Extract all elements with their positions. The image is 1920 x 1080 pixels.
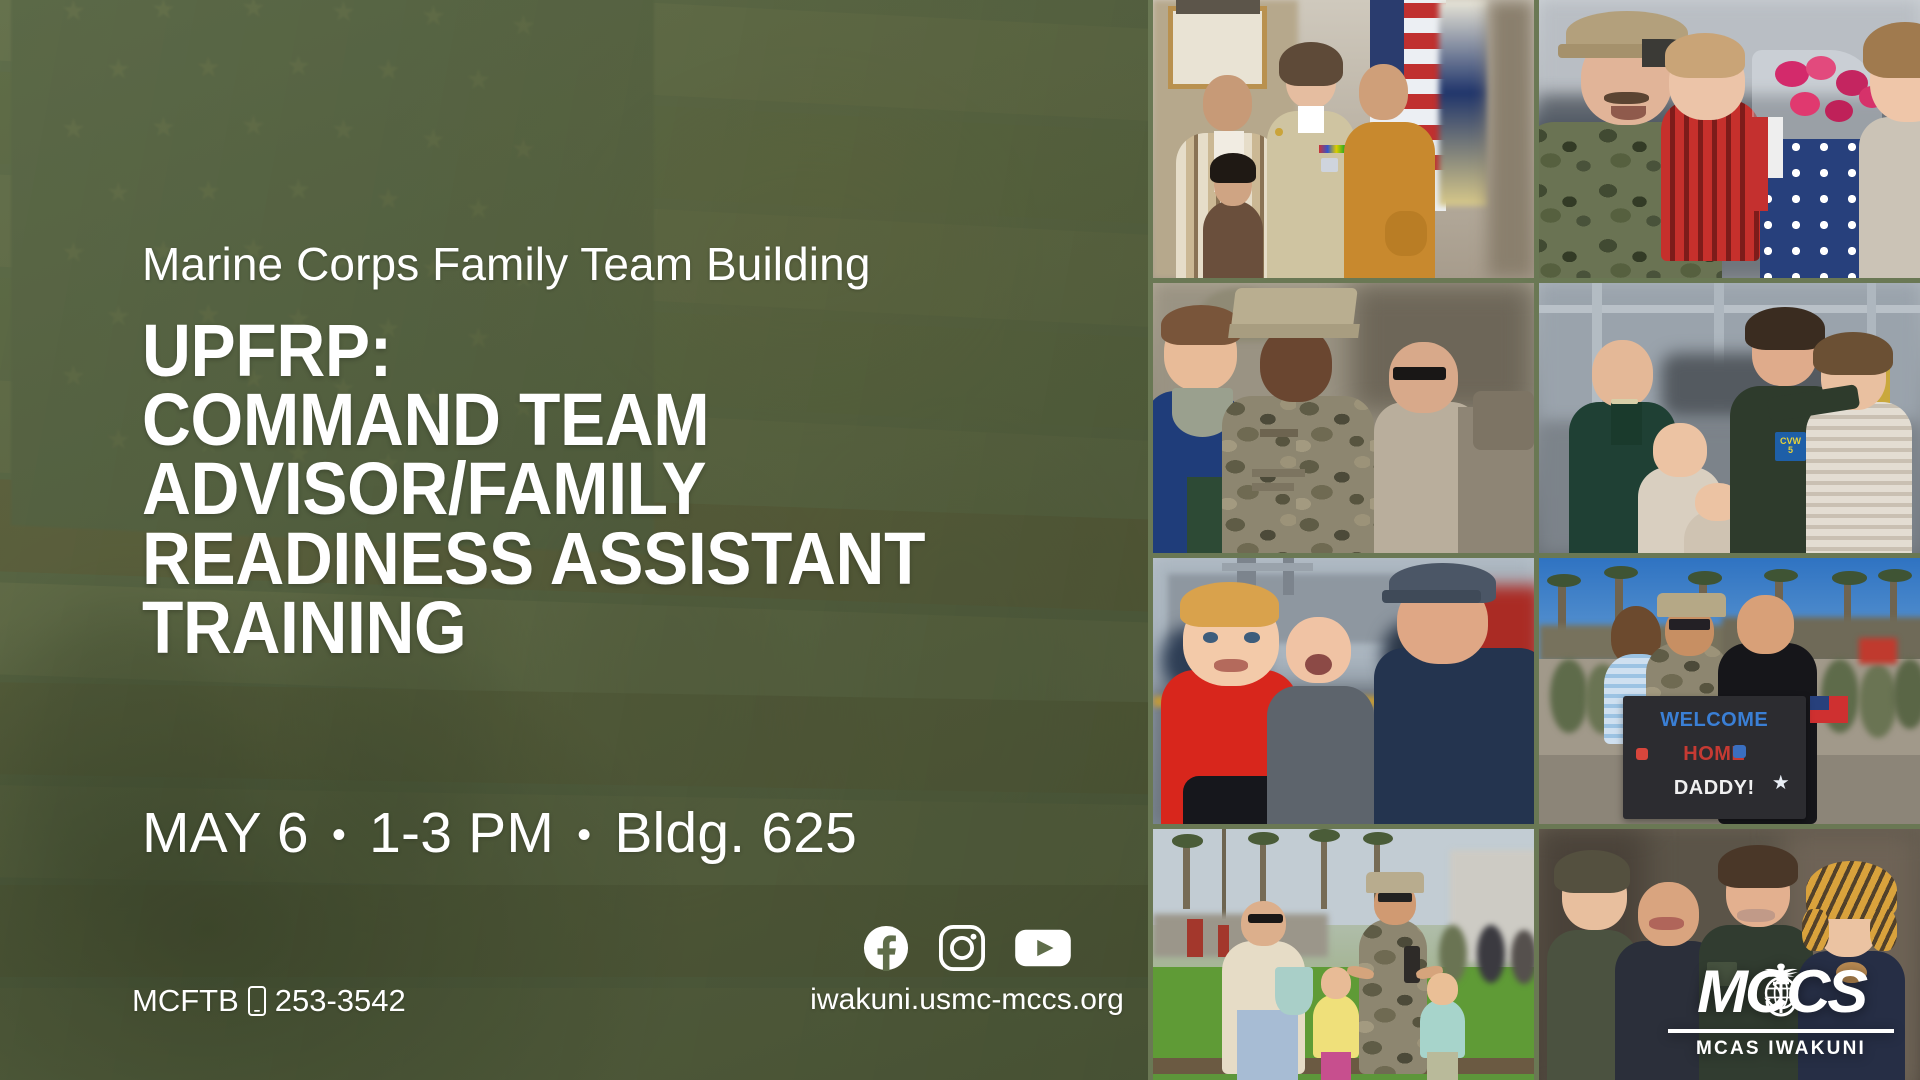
sign-line-1: WELCOME [1623, 709, 1806, 732]
headline-line-1: UPFRP: [142, 316, 925, 385]
photo-grid: CVW5 [1148, 0, 1920, 1080]
left-text-panel: Marine Corps Family Team Building UPFRP:… [0, 0, 1148, 1080]
welcome-home-sign: WELCOME HOME DADDY! [1623, 696, 1806, 818]
instagram-icon[interactable] [939, 925, 985, 971]
eagle-globe-anchor-icon [1748, 957, 1814, 1026]
poster-headline: UPFRP: COMMAND TEAM ADVISOR/FAMILY READI… [142, 316, 925, 662]
event-time: 1-3 PM [369, 801, 554, 865]
detail-separator-2: • [570, 813, 598, 857]
social-icon-row [802, 925, 1132, 971]
photo-2 [1539, 0, 1920, 278]
mccs-installation: MCAS IWAKUNI [1668, 1038, 1894, 1060]
mccs-divider [1668, 1029, 1894, 1033]
headline-line-2: COMMAND TEAM [142, 385, 925, 454]
photo-7 [1153, 829, 1534, 1080]
mobile-phone-icon [248, 986, 266, 1016]
event-location: Bldg. 625 [614, 801, 857, 865]
poster-canvas: Marine Corps Family Team Building UPFRP:… [0, 0, 1920, 1080]
headline-line-3: ADVISOR/FAMILY [142, 454, 925, 523]
mccs-logo: MCCS [1668, 961, 1894, 1060]
event-details-line: MAY 6 • 1-3 PM • Bldg. 625 [142, 800, 857, 866]
photo-4: CVW5 [1539, 283, 1920, 553]
photo-3 [1153, 283, 1534, 553]
contact-department: MCFTB [132, 983, 239, 1019]
photo-1 [1153, 0, 1534, 278]
detail-separator-1: • [325, 813, 353, 857]
youtube-icon[interactable] [1015, 925, 1071, 971]
sign-line-2: HOME [1623, 743, 1806, 766]
event-date: MAY 6 [142, 801, 309, 865]
facebook-icon[interactable] [863, 925, 909, 971]
social-block: iwakuni.usmc-mccs.org [802, 925, 1132, 1017]
photo-5 [1153, 558, 1534, 824]
organization-name: Marine Corps Family Team Building [142, 237, 871, 291]
website-url[interactable]: iwakuni.usmc-mccs.org [802, 983, 1132, 1017]
headline-line-4: READINESS ASSISTANT [142, 524, 925, 593]
contact-info: MCFTB 253-3542 [132, 983, 406, 1019]
photo-6: WELCOME HOME DADDY! [1539, 558, 1920, 824]
contact-phone-number: 253-3542 [275, 983, 406, 1019]
headline-line-5: TRAINING [142, 593, 925, 662]
